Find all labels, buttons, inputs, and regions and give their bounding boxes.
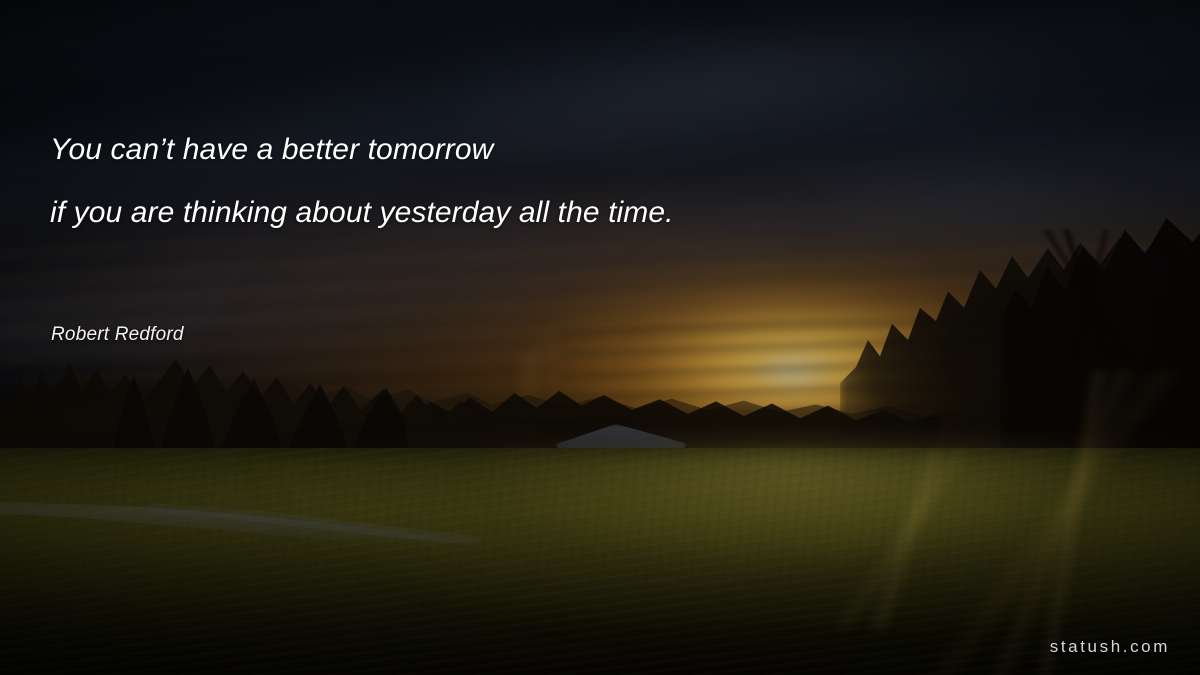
quote-image-card: You can’t have a better tomorrow if you …	[0, 0, 1200, 675]
site-watermark: statush.com	[1050, 637, 1170, 657]
quote-author: Robert Redford	[51, 322, 184, 348]
quote-line-2: if you are thinking about yesterday all …	[50, 181, 1090, 244]
text-overlay: You can’t have a better tomorrow if you …	[0, 0, 1200, 675]
quote-line-1: You can’t have a better tomorrow	[50, 118, 1090, 181]
quote-text-block: You can’t have a better tomorrow if you …	[50, 118, 1090, 244]
